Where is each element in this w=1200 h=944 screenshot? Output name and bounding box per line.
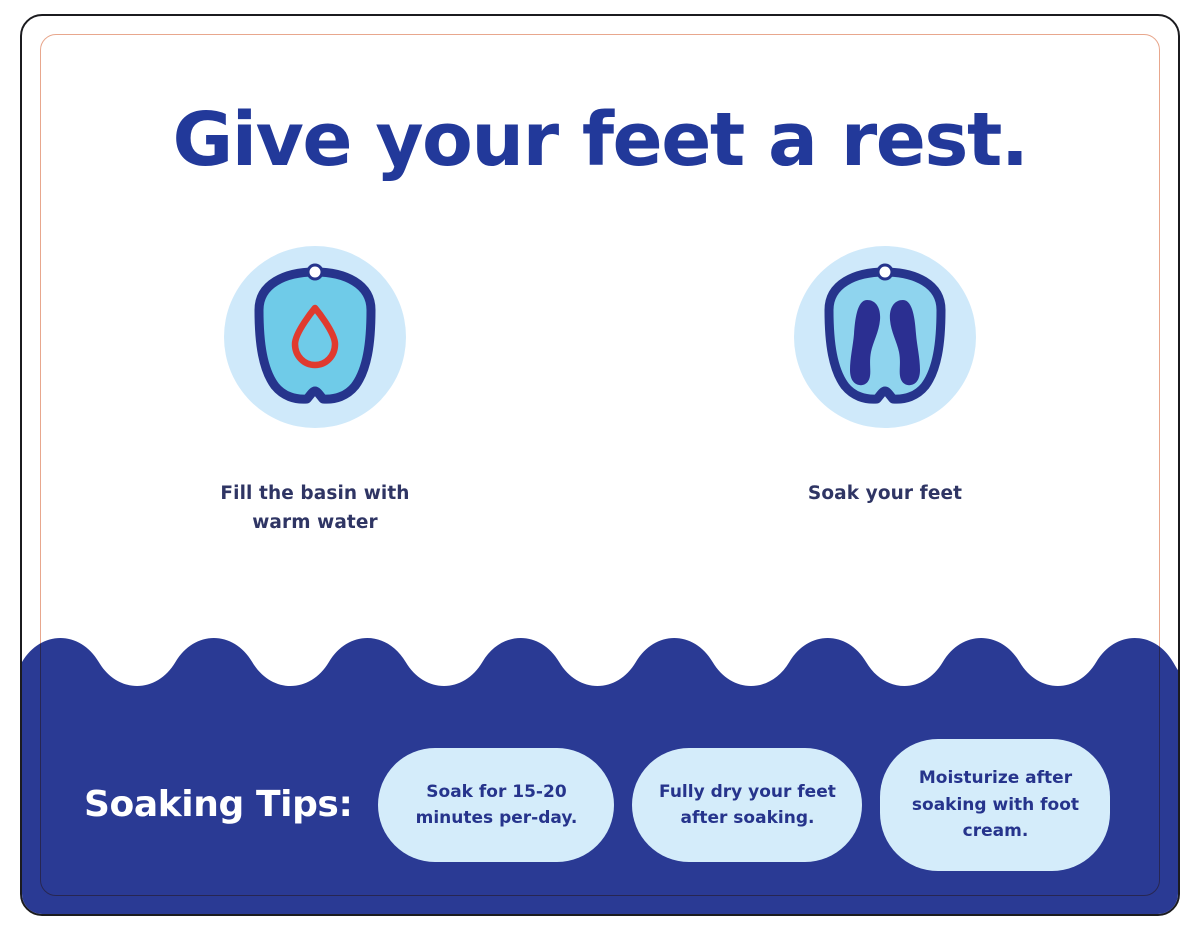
page-title: Give your feet a rest. (22, 102, 1178, 180)
soaking-tips-section: Soaking Tips: Soak for 15-20 minutes per… (22, 634, 1178, 914)
tip-pill-dry-feet: Fully dry your feet after soaking. (632, 748, 862, 862)
infographic-poster: Give your feet a rest. (0, 0, 1200, 944)
steps-row: Fill the basin with warm water (22, 246, 1178, 537)
wave-divider (22, 634, 1178, 706)
tip-pill-moisturize: Moisturize after soaking with foot cream… (880, 739, 1110, 871)
step-caption: Fill the basin with warm water (208, 480, 423, 537)
outer-border-frame: Give your feet a rest. (20, 14, 1180, 916)
basin-with-water-droplet-icon (249, 262, 381, 412)
tips-heading: Soaking Tips: (84, 784, 352, 825)
tips-row: Soaking Tips: Soak for 15-20 minutes per… (22, 700, 1178, 914)
basin-with-feet-icon (819, 262, 951, 412)
step-soak-feet: Soak your feet (760, 246, 1010, 537)
step-fill-basin: Fill the basin with warm water (190, 246, 440, 537)
step-icon-background-circle (794, 246, 976, 428)
tip-pill-list: Soak for 15-20 minutes per-day. Fully dr… (378, 739, 1110, 871)
tip-pill-soak-duration: Soak for 15-20 minutes per-day. (378, 748, 614, 862)
step-caption: Soak your feet (808, 480, 962, 509)
step-icon-background-circle (224, 246, 406, 428)
steps-section: Give your feet a rest. (22, 16, 1178, 656)
